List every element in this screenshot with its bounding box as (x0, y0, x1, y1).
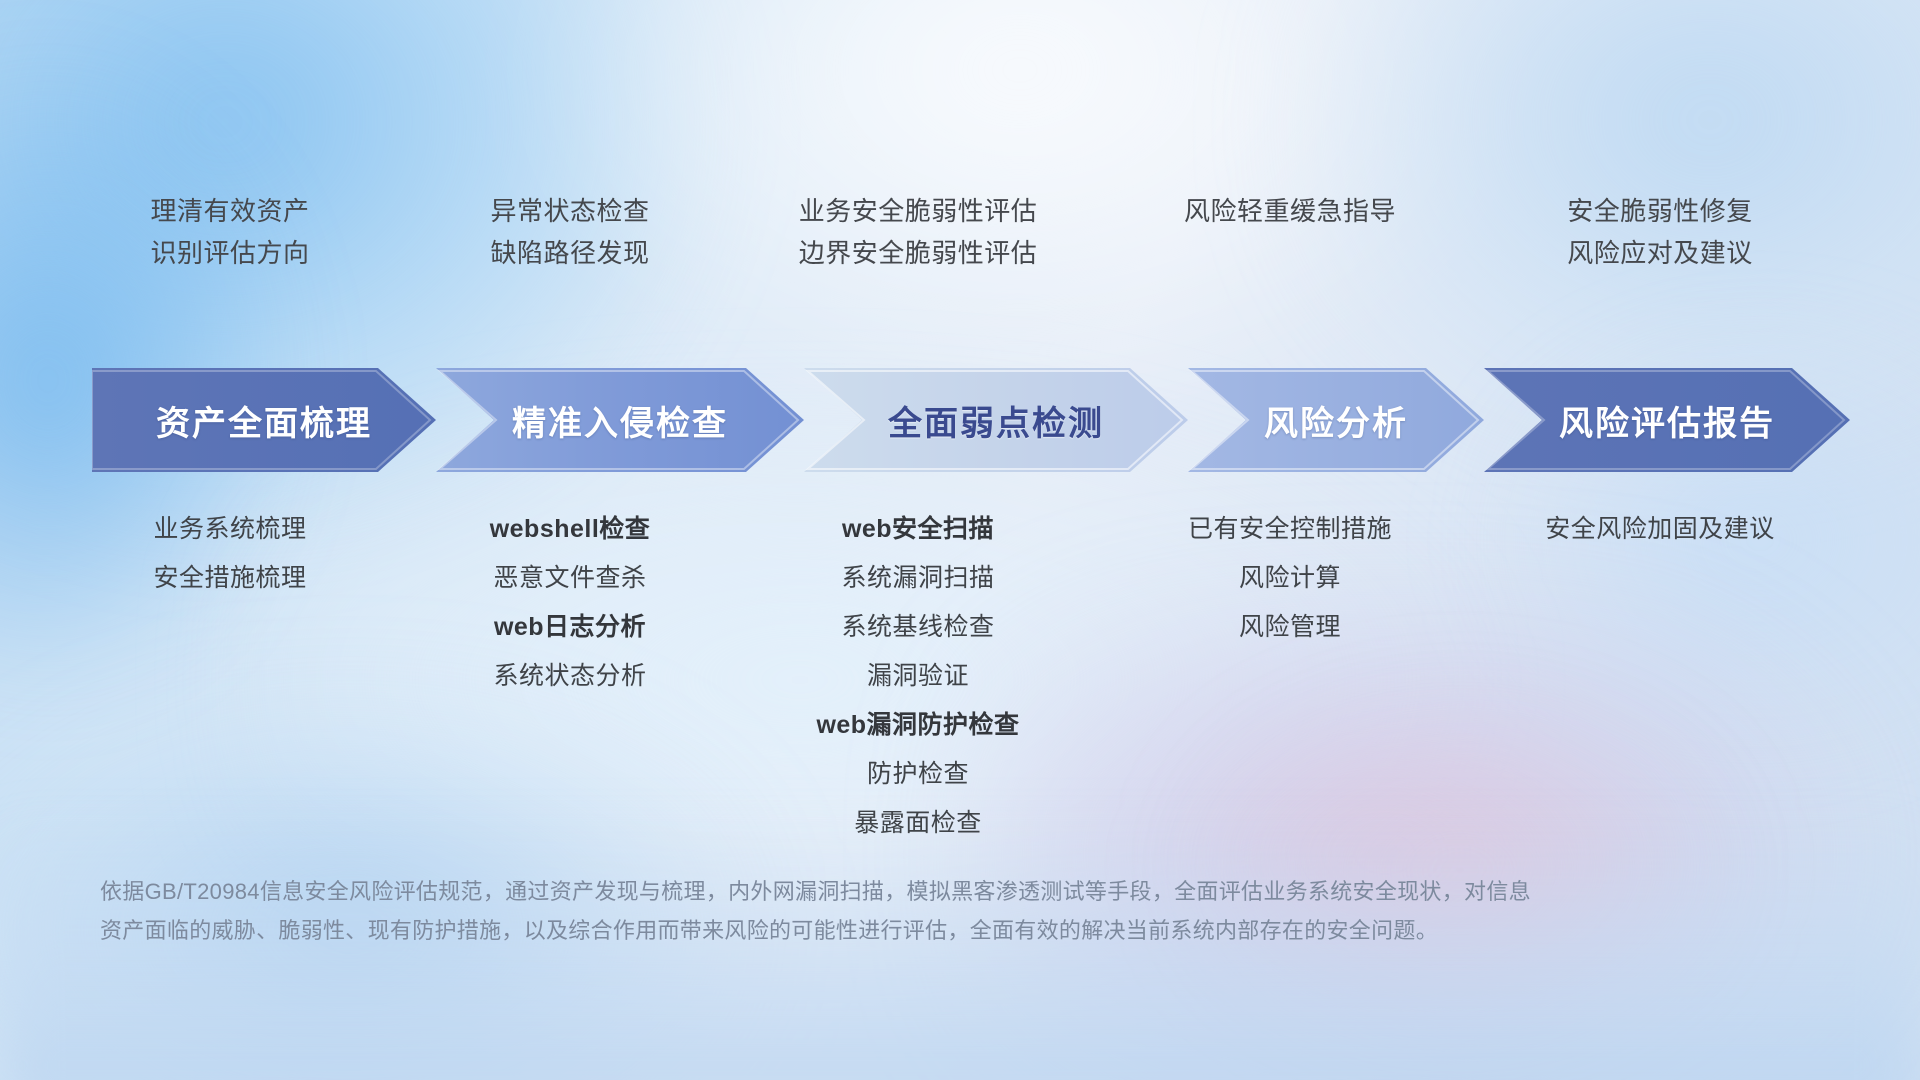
process-flow-band: 资产全面梳理 精准入侵检查 (0, 368, 1920, 472)
footer-description: 依据GB/T20984信息安全风险评估规范，通过资产发现与梳理，内外网漏洞扫描，… (100, 872, 1740, 950)
stage-4-bottom-item: 风险计算 (1080, 554, 1500, 603)
stage-5-top-item: 安全脆弱性修复 (1450, 190, 1870, 232)
stage-3-top-item: 业务安全脆弱性评估 (688, 190, 1148, 232)
stage-3-chevron[interactable]: 全面弱点检测 (804, 368, 1188, 472)
stage-4-label: 风险分析 (1264, 396, 1408, 445)
stage-3-top-labels: 业务安全脆弱性评估 边界安全脆弱性评估 (688, 190, 1148, 274)
stage-5-top-labels: 安全脆弱性修复 风险应对及建议 (1450, 190, 1870, 274)
stage-4-top-labels: 风险轻重缓急指导 (1080, 190, 1500, 232)
stage-3-bottom-item: 漏洞验证 (688, 652, 1148, 701)
stage-4-bottom-item: 已有安全控制措施 (1080, 505, 1500, 554)
stage-5-top-item: 风险应对及建议 (1450, 232, 1870, 274)
stage-4-bottom-items: 已有安全控制措施 风险计算 风险管理 (1080, 505, 1500, 652)
stage-4-bottom-item: 风险管理 (1080, 603, 1500, 652)
stage-5-bottom-items: 安全风险加固及建议 (1440, 505, 1880, 554)
stage-3-bottom-item: web安全扫描 (688, 505, 1148, 554)
stage-3-bottom-item: 系统漏洞扫描 (688, 554, 1148, 603)
stage-5-chevron[interactable]: 风险评估报告 (1484, 368, 1850, 472)
stage-4-top-item: 风险轻重缓急指导 (1080, 190, 1500, 232)
stage-3-bottom-item: 暴露面检查 (688, 799, 1148, 848)
stage-1-label: 资产全面梳理 (156, 396, 372, 445)
stage-3-bottom-item: 系统基线检查 (688, 603, 1148, 652)
stage-3-label: 全面弱点检测 (888, 396, 1104, 445)
stage-4-chevron[interactable]: 风险分析 (1188, 368, 1484, 472)
stage-3-bottom-item: 防护检查 (688, 750, 1148, 799)
stage-5-bottom-item: 安全风险加固及建议 (1440, 505, 1880, 554)
stage-3-top-item: 边界安全脆弱性评估 (688, 232, 1148, 274)
stage-3-bottom-items: web安全扫描 系统漏洞扫描 系统基线检查 漏洞验证 web漏洞防护检查 防护检… (688, 505, 1148, 848)
stage-5-label: 风险评估报告 (1559, 396, 1775, 445)
stage-2-label: 精准入侵检查 (512, 396, 728, 445)
stage-1-chevron[interactable]: 资产全面梳理 (92, 368, 436, 472)
process-diagram: 理清有效资产 识别评估方向 异常状态检查 缺陷路径发现 业务安全脆弱性评估 边界… (0, 0, 1920, 1080)
stage-3-bottom-item: web漏洞防护检查 (688, 701, 1148, 750)
footer-line-1: 依据GB/T20984信息安全风险评估规范，通过资产发现与梳理，内外网漏洞扫描，… (100, 872, 1740, 911)
stage-2-chevron[interactable]: 精准入侵检查 (436, 368, 804, 472)
footer-line-2: 资产面临的威胁、脆弱性、现有防护措施，以及综合作用而带来风险的可能性进行评估，全… (100, 911, 1740, 950)
